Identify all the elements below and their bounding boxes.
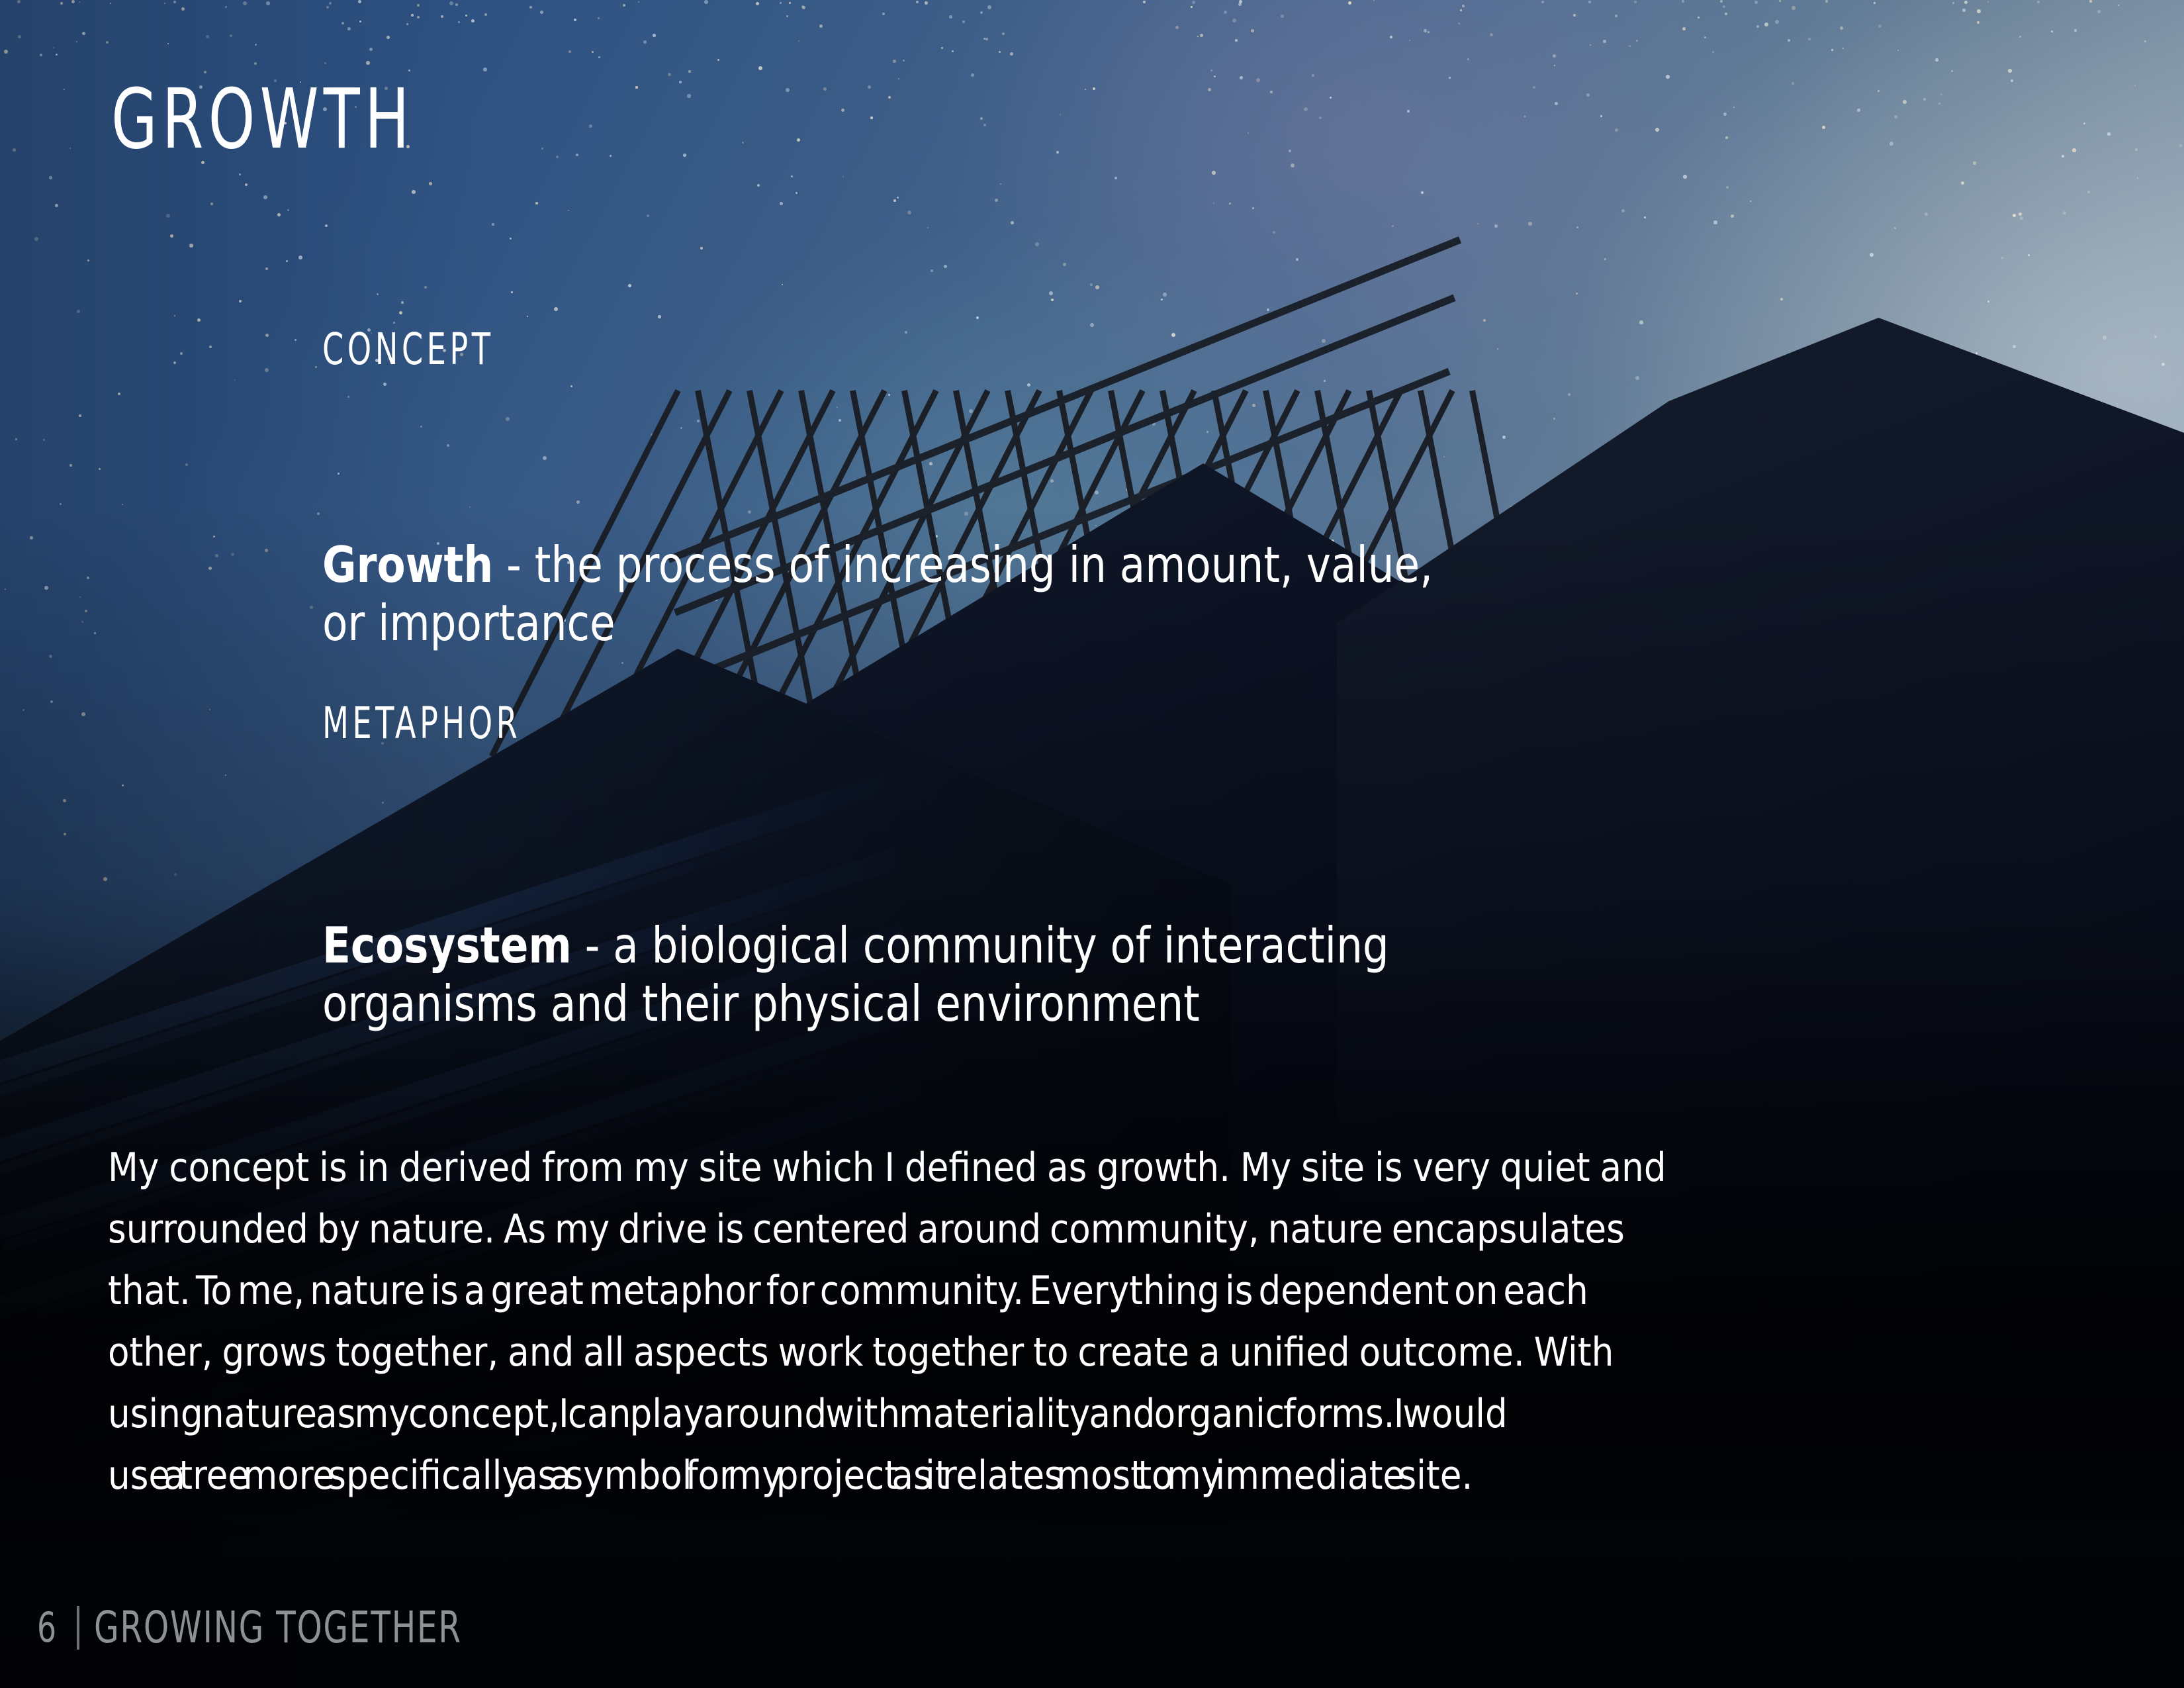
deck-name: GROWING TOGETHER [94, 1606, 462, 1650]
definition-separator: - [493, 536, 534, 594]
section-kicker-metaphor: METAPHOR [322, 702, 521, 745]
section-kicker-concept: CONCEPT [322, 328, 494, 371]
paragraph-line: use a tree more specifically as a symbol… [108, 1445, 2064, 1507]
slide-footer: 6 GROWING TOGETHER [37, 1606, 543, 1650]
page-number: 6 [37, 1607, 60, 1648]
paragraph-line: other, grows together, and all aspects w… [108, 1322, 2064, 1383]
definition-growth: Growth - the process of increasing in am… [322, 477, 1433, 653]
body-paragraph: My concept is in derived from my site wh… [108, 1137, 2093, 1507]
paragraph-line: using nature as my concept, I can play a… [108, 1383, 2064, 1445]
definition-ecosystem: Ecosystem - a biological community of in… [322, 857, 1389, 1033]
definition-separator: - [572, 916, 613, 974]
definition-term-ecosystem: Ecosystem [322, 916, 572, 974]
paragraph-line: My concept is in derived from my site wh… [108, 1137, 2064, 1199]
definition-term-growth: Growth [322, 536, 493, 594]
footer-divider [77, 1606, 79, 1650]
paragraph-line: surrounded by nature. As my drive is cen… [108, 1199, 2064, 1260]
slide-content: GROWTH CONCEPT Growth - the process of i… [0, 0, 2184, 1688]
page-title: GROWTH [111, 78, 414, 161]
presentation-slide: GROWTH CONCEPT Growth - the process of i… [0, 0, 2184, 1688]
paragraph-line: that. To me, nature is a great metaphor … [108, 1260, 2064, 1322]
